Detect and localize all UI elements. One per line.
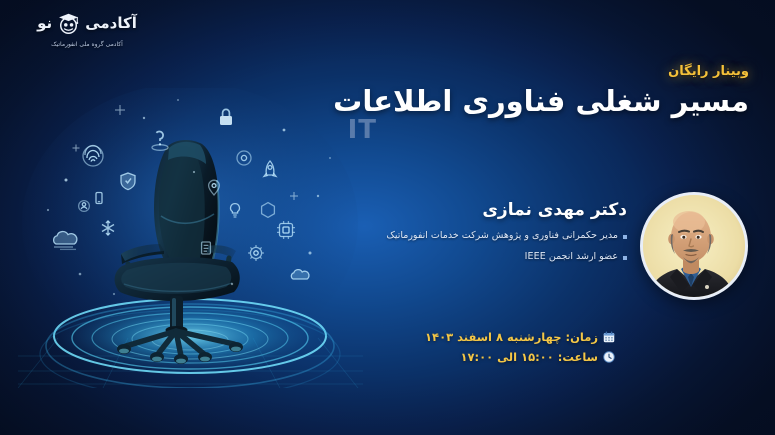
logo-lockup: آکادمی نو: [12, 7, 162, 39]
graduation-cap-icon: [55, 10, 82, 37]
bullet-icon: [623, 235, 627, 239]
event-date-text: زمان: چهارشنبه ۸ اسفند ۱۴۰۳: [425, 330, 598, 344]
logo-word-right: آکادمی: [85, 14, 137, 32]
bullet-icon: [623, 256, 627, 260]
logo-word-left: نو: [37, 14, 52, 32]
brand-tagline: آکادمی گروه ملی انفورماتیک: [12, 41, 162, 48]
event-meta: زمان: چهارشنبه ۸ اسفند ۱۴۰۳ ساعت: ۱۵:۰۰ …: [370, 330, 615, 370]
page-title: مسیر شغلی فناوری اطلاعات: [329, 84, 749, 118]
clock-icon: [603, 351, 615, 363]
speaker-block: دکتر مهدی نمازی مدیر حکمرانی فناوری و پژ…: [352, 200, 627, 272]
credential-text: مدیر حکمرانی فناوری و پژوهش شرکت خدمات ا…: [386, 229, 618, 243]
event-time-row: ساعت: ۱۵:۰۰ الی ۱۷:۰۰: [370, 350, 615, 364]
credential-text: عضو ارشد انجمن IEEE: [525, 250, 618, 264]
webinar-banner: آکادمی نو آکادمی گروه ملی انفورماتیک: [0, 0, 775, 435]
avatar: [640, 192, 748, 300]
brand-logo[interactable]: آکادمی نو آکادمی گروه ملی انفورماتیک: [12, 7, 162, 48]
event-time-text: ساعت: ۱۵:۰۰ الی ۱۷:۰۰: [460, 350, 598, 364]
speaker-name: دکتر مهدی نمازی: [352, 200, 627, 220]
speaker-credentials-list: مدیر حکمرانی فناوری و پژوهش شرکت خدمات ا…: [352, 229, 627, 265]
page-subtitle: IT: [329, 115, 749, 145]
list-item: عضو ارشد انجمن IEEE: [352, 250, 627, 264]
headline-block: وبینار رایگان مسیر شغلی فناوری اطلاعات I…: [329, 60, 749, 145]
office-chair-hologram-illustration: [18, 88, 363, 388]
webinar-kicker: وبینار رایگان: [668, 64, 749, 79]
event-date-row: زمان: چهارشنبه ۸ اسفند ۱۴۰۳: [370, 330, 615, 344]
calendar-icon: [603, 331, 615, 343]
list-item: مدیر حکمرانی فناوری و پژوهش شرکت خدمات ا…: [352, 229, 627, 243]
